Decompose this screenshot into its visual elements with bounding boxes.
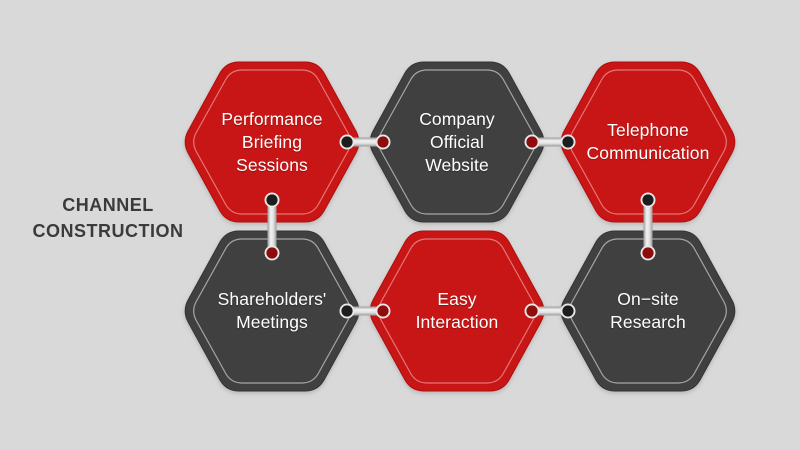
connector-dot (377, 305, 388, 316)
conn-website-telephone (525, 135, 576, 150)
hexagon-body[interactable] (370, 231, 544, 391)
connector-dot (266, 247, 277, 258)
page-title: CHANNEL CONSTRUCTION (14, 192, 202, 244)
connector-dot (341, 305, 352, 316)
hexagon-company-official-website[interactable] (370, 62, 544, 222)
connector-dot (562, 136, 573, 147)
connector-dot (266, 194, 277, 205)
connector-dot (341, 136, 352, 147)
hexagon-body[interactable] (370, 62, 544, 222)
connector-dot (642, 247, 653, 258)
connector-bar (268, 200, 277, 253)
diagram-canvas: CHANNEL CONSTRUCTION Performance Briefin… (0, 0, 800, 450)
connector-dot (526, 136, 537, 147)
conn-briefing-shareholders (265, 193, 280, 261)
connector-bar (644, 200, 653, 253)
conn-telephone-onsite (641, 193, 656, 261)
conn-shareholders-easy (340, 304, 391, 319)
hexagon-easy-interaction[interactable] (370, 231, 544, 391)
conn-easy-onsite (525, 304, 576, 319)
connector-dot (377, 136, 388, 147)
conn-briefing-website (340, 135, 391, 150)
connector-dot (526, 305, 537, 316)
connector-dot (642, 194, 653, 205)
connector-dot (562, 305, 573, 316)
